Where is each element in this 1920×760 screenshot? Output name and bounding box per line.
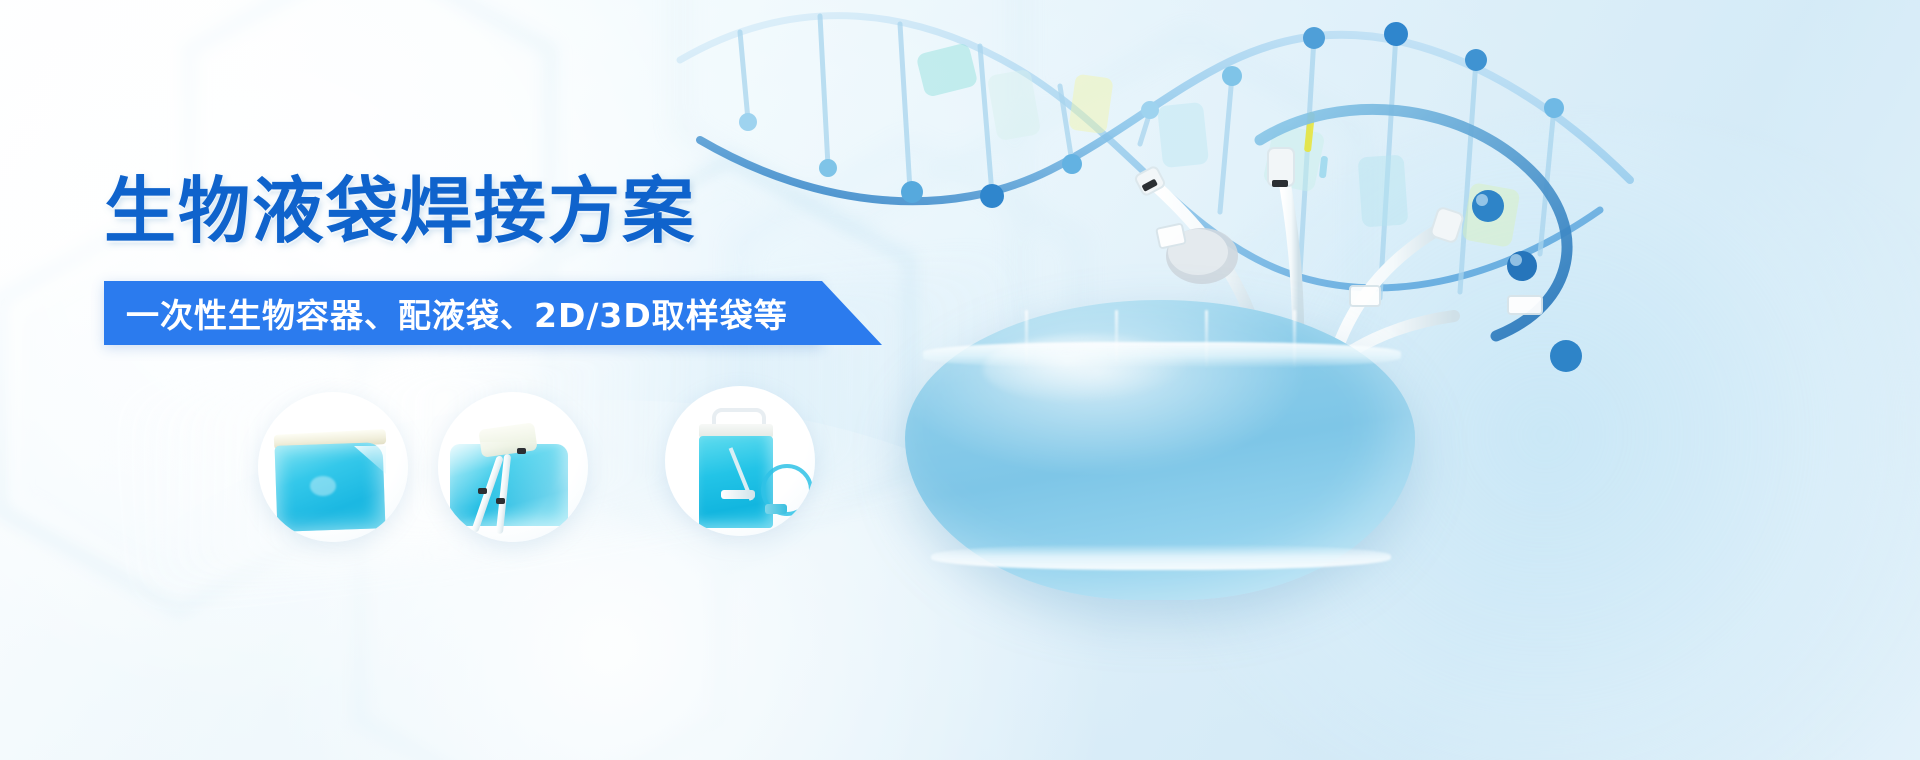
hero-banner: 生物液袋焊接方案 一次性生物容器、配液袋、2D/3D取样袋等 [0,0,1920,760]
tubed-liquid-bag-icon [438,392,588,542]
flat-liquid-bag-icon [258,392,408,542]
product-thumbnail-row [0,0,1920,760]
hanging-sampling-bag-icon [665,386,815,536]
